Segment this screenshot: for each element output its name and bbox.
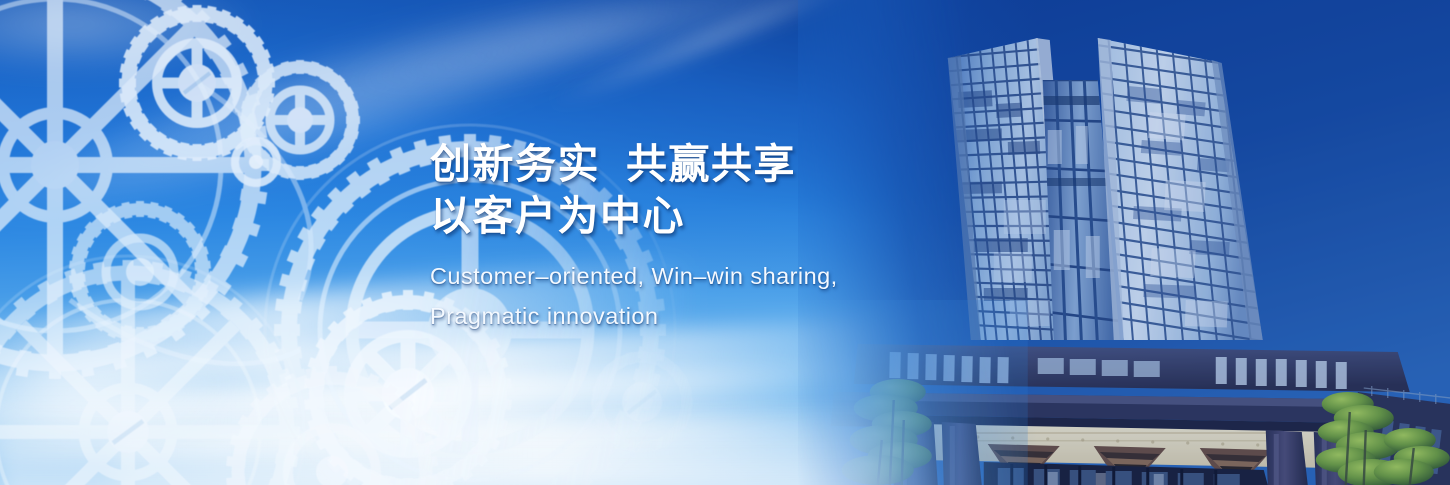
headline-line-1: 创新务实共赢共享: [430, 138, 990, 190]
hero-banner: 创新务实共赢共享 以客户为中心 Customer–oriented, Win–w…: [0, 0, 1450, 485]
headline-line-2: 以客户为中心: [430, 190, 990, 242]
banner-copy: 创新务实共赢共享 以客户为中心 Customer–oriented, Win–w…: [430, 138, 990, 336]
subtitle-line-2: Pragmatic innovation: [430, 296, 990, 336]
headline-part-2: 共赢共享: [626, 141, 796, 187]
subtitle-line-1: Customer–oriented, Win–win sharing,: [430, 256, 990, 296]
headline-part-1: 创新务实: [430, 141, 600, 187]
